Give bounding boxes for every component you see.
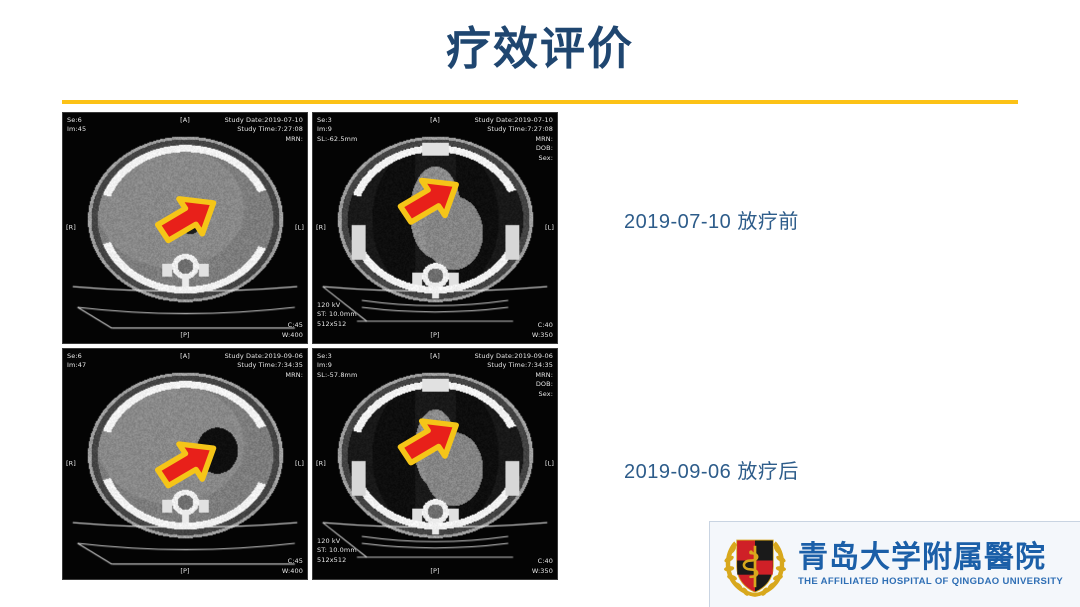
- svg-text:1898: 1898: [749, 592, 760, 598]
- ct-panel-pre-abdomen[interactable]: Se:6 Im:45Study Date:2019-07-10 Study Ti…: [62, 112, 308, 344]
- ct-panel-pre-chest[interactable]: Se:3 Im:9 SL:-62.5mmStudy Date:2019-07-1…: [312, 112, 558, 344]
- hospital-logo: 1898 青岛大学附属醫院 THE AFFILIATED HOSPITAL OF…: [709, 521, 1080, 607]
- hospital-name-cn: 青岛大学附属醫院: [798, 542, 1063, 574]
- ct-panel-post-abdomen[interactable]: Se:6 Im:47Study Date:2019-09-06 Study Ti…: [62, 348, 308, 580]
- page-title: 疗效评价: [0, 22, 1080, 76]
- ct-panel-post-chest[interactable]: Se:3 Im:9 SL:-57.8mmStudy Date:2019-09-0…: [312, 348, 558, 580]
- title-divider: [62, 100, 1018, 104]
- ct-scan-image: [313, 113, 557, 343]
- ct-scan-image: [313, 349, 557, 579]
- ct-image-grid: Se:6 Im:45Study Date:2019-07-10 Study Ti…: [62, 112, 558, 594]
- ct-scan-image: [63, 113, 307, 343]
- caption-post-treatment: 2019-09-06 放疗后: [624, 455, 799, 484]
- ct-scan-image: [63, 349, 307, 579]
- hospital-crest-icon: 1898: [718, 528, 792, 602]
- hospital-name-en: THE AFFILIATED HOSPITAL OF QINGDAO UNIVE…: [798, 576, 1063, 587]
- caption-pre-treatment: 2019-07-10 放疗前: [624, 205, 799, 234]
